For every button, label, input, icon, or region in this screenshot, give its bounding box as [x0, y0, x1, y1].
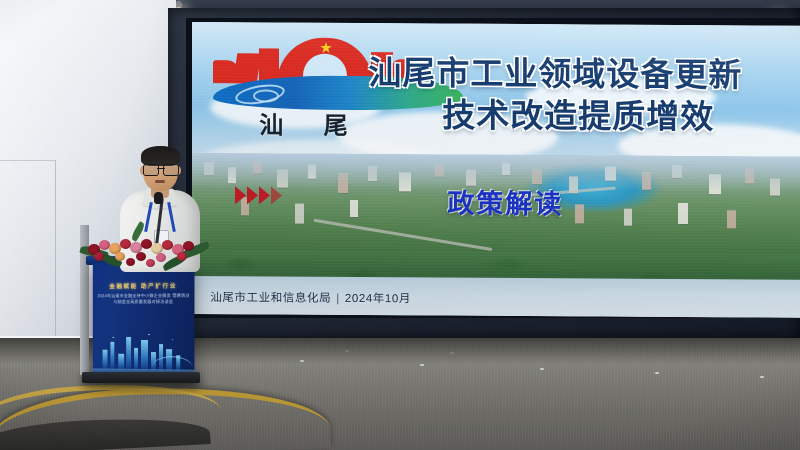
slide-title: 汕尾市工业领域设备更新 技术改造提质增效 [368, 52, 800, 138]
conference-photo-scene: 汕尾市工业和信息化局|2024年10月 ★ 汕 尾 [0, 0, 800, 450]
chevron-icon [247, 186, 258, 204]
podium-bridge-graphic [152, 356, 192, 370]
led-screen[interactable]: 汕尾市工业和信息化局|2024年10月 ★ 汕 尾 [192, 22, 800, 318]
chevron-arrows-icon [235, 186, 282, 204]
footer-org: 汕尾市工业和信息化局 [210, 292, 331, 305]
microphone-icon [154, 192, 163, 204]
chevron-icon [271, 186, 282, 204]
chevron-icon [235, 186, 246, 204]
speaker-hair [141, 146, 180, 166]
podium-subtitle: 2024年汕尾市金融支持中小微企业服务 暨建筑业与制造业高质量发展对接洽谈会 [97, 293, 191, 305]
emblem-flag [233, 53, 262, 83]
chevron-icon [259, 186, 270, 204]
glasses-icon [143, 164, 179, 174]
glasses-lens-left [143, 164, 159, 176]
footer-date: 2024年10月 [345, 293, 411, 305]
podium-title: 金融赋能 助产扩行业 [93, 281, 195, 290]
slide-subtitle: 政策解读 [447, 181, 563, 221]
flower-arrangement [84, 222, 206, 270]
glasses-lens-right [163, 164, 179, 176]
presentation-slide: 汕尾市工业和信息化局|2024年10月 ★ 汕 尾 [192, 22, 800, 318]
slide-footer-text: 汕尾市工业和信息化局|2024年10月 [210, 289, 411, 306]
slide-title-line2: 技术改造提质增效 [368, 94, 800, 138]
slide-title-line1: 汕尾市工业领域设备更新 [368, 52, 800, 96]
speaker-mouth [155, 180, 165, 183]
podium-base [82, 372, 200, 383]
emblem-swirl [253, 89, 279, 102]
podium[interactable]: 金融赋能 助产扩行业 2024年汕尾市金融支持中小微企业服务 暨建筑业与制造业高… [93, 261, 195, 379]
footer-divider: | [336, 293, 340, 305]
emblem-wordmark: 汕 尾 [259, 105, 363, 141]
